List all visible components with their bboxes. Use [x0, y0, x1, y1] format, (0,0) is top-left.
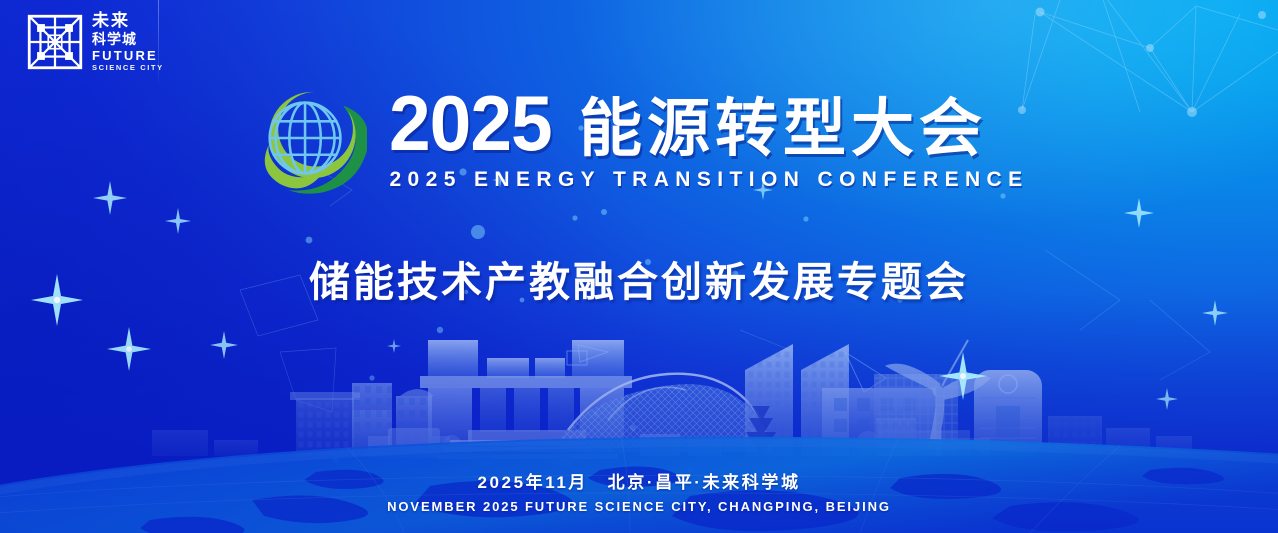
brand-name-cn-line1: 未来 — [92, 12, 164, 29]
brand-name-en-line1: FUTURE — [92, 49, 164, 62]
conference-banner: 未来 科学城 FUTURE SCIENCE CITY 2025 能源转型大会 — [0, 0, 1278, 533]
title-name-cn: 能源转型大会 — [579, 98, 987, 161]
globe-with-green-leaves-icon — [249, 84, 367, 196]
pine-tree — [746, 406, 776, 460]
main-title-block: 2025 能源转型大会 2025 ENERGY TRANSITION CONFE… — [0, 82, 1278, 196]
brand-name-cn-line2: 科学城 — [92, 32, 164, 46]
title-name-en: 2025 ENERGY TRANSITION CONFERENCE — [389, 168, 1028, 192]
brand-divider — [158, 0, 159, 88]
footer-date-location-en: NOVEMBER 2025 FUTURE SCIENCE CITY, CHANG… — [0, 499, 1278, 514]
subheadline: 储能技术产教融合创新发展专题会 — [0, 248, 1278, 308]
title-year: 2025 — [389, 86, 552, 160]
brand-logo[interactable]: 未来 科学城 FUTURE SCIENCE CITY — [27, 12, 164, 72]
brand-name-en-line2: SCIENCE CITY — [92, 64, 164, 72]
title-main-line: 2025 能源转型大会 — [389, 86, 1028, 161]
footer-date-location-cn: 2025年11月 北京·昌平·未来科学城 — [0, 468, 1278, 493]
brand-text: 未来 科学城 FUTURE SCIENCE CITY — [92, 12, 164, 72]
title-texts: 2025 能源转型大会 2025 ENERGY TRANSITION CONFE… — [389, 86, 1028, 192]
future-science-city-grid-logo-icon — [27, 14, 83, 70]
footer-info: 2025年11月 北京·昌平·未来科学城 NOVEMBER 2025 FUTUR… — [0, 468, 1278, 514]
